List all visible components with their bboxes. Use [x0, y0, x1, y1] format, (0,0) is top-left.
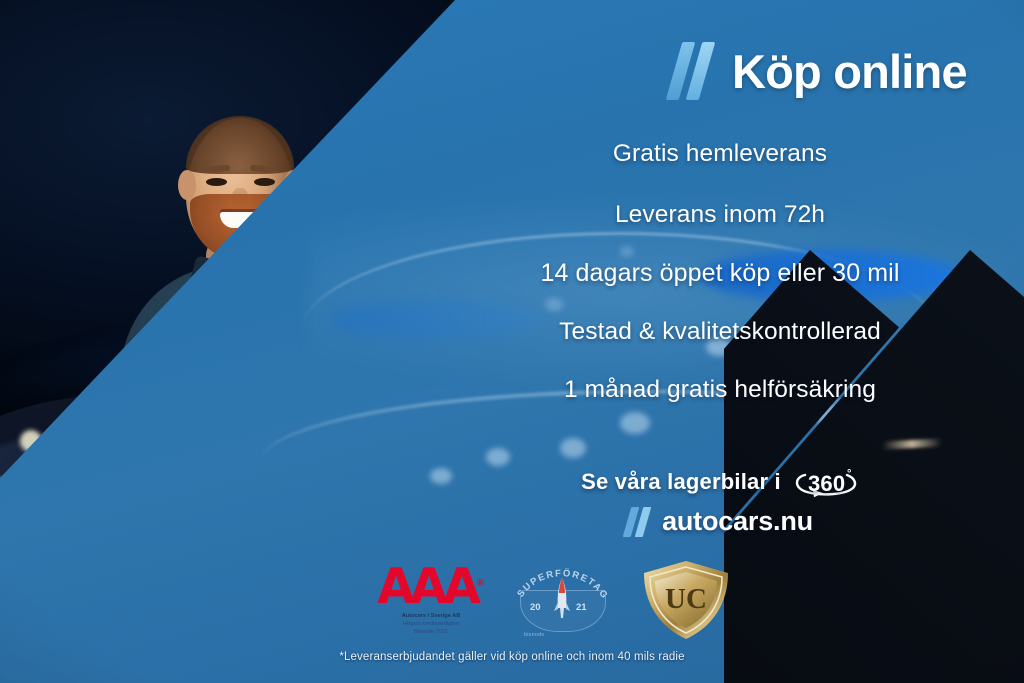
- cta-headline-row: Se våra lagerbilar i 360 °: [440, 464, 1000, 500]
- cta-block[interactable]: Se våra lagerbilar i 360 ° autocars.nu: [440, 464, 1000, 537]
- svg-text:360: 360: [808, 471, 845, 496]
- banner-content: Köp online Gratis hemleverans Leverans i…: [0, 0, 1024, 683]
- uc-certificate-logo: UC: [640, 558, 732, 642]
- aaa-subtext: Autocars i Sverige AB Högsta kreditvärdi…: [366, 612, 496, 636]
- double-slash-logo-icon-small: [627, 507, 653, 537]
- page-title: Köp online: [732, 48, 967, 95]
- promo-banner: Köp online Gratis hemleverans Leverans i…: [0, 0, 1024, 683]
- disclaimer-text: *Leveranserbjudandet gäller vid köp onli…: [0, 651, 1024, 663]
- feature-list: Gratis hemleverans Leverans inom 72h 14 …: [440, 140, 1000, 434]
- svg-text:UC: UC: [665, 583, 707, 615]
- superforetag-badge-logo: SUPERFÖRETAG 20 21 bisnode: [510, 556, 614, 642]
- 360-badge-icon: 360 °: [791, 464, 859, 500]
- cta-label: Se våra lagerbilar i: [581, 469, 781, 495]
- feature-item: Testad & kvalitetskontrollerad: [440, 318, 1000, 346]
- badge-year-left: 20: [530, 602, 541, 613]
- badge-year-right: 21: [576, 602, 587, 613]
- feature-item: Gratis hemleverans: [440, 140, 1000, 168]
- feature-item: 1 månad gratis helförsäkring: [440, 376, 1000, 404]
- rocket-icon: [554, 578, 570, 622]
- double-slash-logo-icon: [672, 42, 716, 100]
- feature-item: Leverans inom 72h: [440, 201, 1000, 229]
- badge-issuer: bisnode: [524, 632, 545, 638]
- feature-item: 14 dagars öppet köp eller 30 mil: [440, 259, 1000, 288]
- cta-url-row[interactable]: autocars.nu: [440, 506, 1000, 537]
- aaa-credit-rating-logo: AAA® Autocars i Sverige AB Högsta kredit…: [366, 564, 496, 636]
- headline-block: Köp online: [672, 42, 967, 100]
- certification-logos: AAA® Autocars i Sverige AB Högsta kredit…: [350, 552, 770, 644]
- svg-text:°: °: [847, 468, 852, 480]
- registered-trademark-icon: ®: [476, 579, 485, 589]
- aaa-mark: AAA®: [366, 564, 496, 611]
- website-url[interactable]: autocars.nu: [662, 506, 813, 537]
